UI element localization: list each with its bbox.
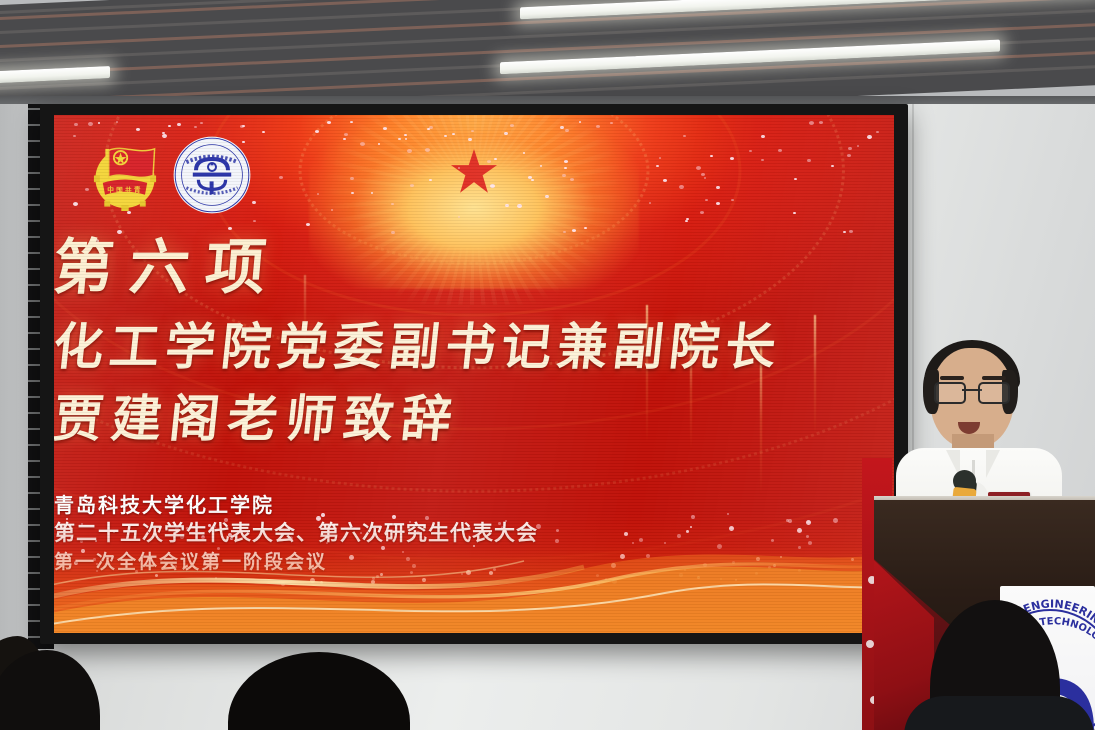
led-pixel-texture (54, 115, 894, 633)
speaker-eyebrow-right (982, 376, 1006, 380)
conference-photo-scene: 中国共青 (0, 0, 1095, 730)
audience-shoulder (904, 696, 1094, 730)
speaker-eyebrow-left (940, 376, 964, 380)
ceiling-light (0, 66, 110, 84)
glasses-lens-left (934, 382, 966, 404)
glasses-icon (934, 382, 1010, 402)
led-screen-bezel: 中国共青 (40, 104, 908, 644)
led-screen: 中国共青 (54, 115, 894, 633)
shirt-collar-right (986, 450, 1000, 478)
glasses-lens-right (978, 382, 1010, 404)
